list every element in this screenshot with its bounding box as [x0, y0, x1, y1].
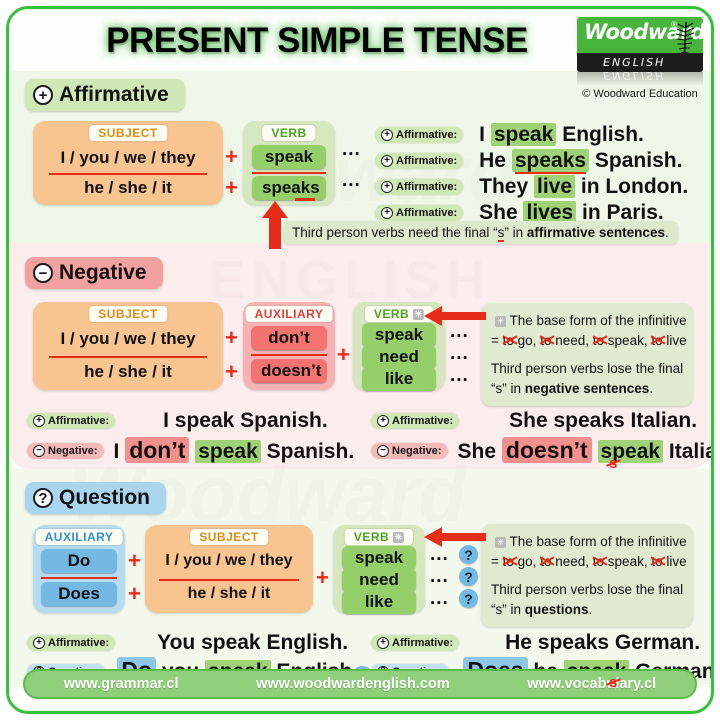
negative-sentence-left: I don’t speak Spanish.	[114, 437, 355, 464]
sentence-verb-2: speaks	[515, 149, 586, 174]
badge-affirmative: + Affirmative	[25, 79, 185, 111]
tag-label: Negative:	[392, 445, 442, 457]
crossed-out-s-question: s	[609, 674, 617, 691]
affirmative-plus-1: +	[225, 144, 238, 170]
question-example-row-aff-right: + Affirmative: He speaks German.	[371, 631, 700, 655]
tag-affirmative-1: + Affirmative:	[375, 127, 463, 143]
affirmative-example-row-3: + Affirmative: They live in London.	[375, 175, 688, 199]
crossed-out-s-negative: s	[609, 455, 617, 472]
sentence-post-2: Spanish.	[595, 149, 683, 172]
neg-right-verb: speak	[598, 440, 664, 463]
tag-affirmative-que-right: + Affirmative:	[371, 635, 459, 651]
plus-icon: +	[33, 85, 53, 105]
infinitive-verb-q4: live	[663, 554, 687, 569]
question-note-line-4-pre: “s” in	[491, 602, 525, 617]
sentence-pre-2: He	[479, 149, 506, 172]
affirmative-verb-chip-2: speaks	[252, 176, 326, 200]
question-qmark-1: ?	[459, 545, 478, 564]
sentence-verb-1: speak	[491, 123, 557, 146]
negative-auxiliary-panel: AUXILIARY don’t doesn’t	[243, 302, 335, 390]
affirmative-subject-panel: SUBJECT I / you / we / they he / she / i…	[33, 121, 223, 205]
infinitive-verb-1: go,	[514, 333, 537, 348]
question-note-line-1: ✳ The base form of the infinitive	[491, 532, 683, 552]
question-note-line-4-end: .	[589, 602, 593, 617]
minus-icon: −	[377, 445, 389, 457]
header: PRESENT SIMPLE TENSE Woodward ®	[9, 9, 711, 75]
negative-note-line-1: ✳ The base form of the infinitive	[491, 311, 683, 331]
plus-icon: +	[377, 415, 389, 427]
asterisk-marker-icon: ✳	[413, 309, 424, 320]
negative-note-line-1-text: The base form of the infinitive	[510, 313, 687, 328]
plus-icon: +	[377, 637, 389, 649]
question-auxiliary-chip-2: Does	[41, 582, 117, 606]
negative-verb-chip-2: need	[362, 345, 436, 369]
affirmative-plus-2: +	[225, 175, 238, 201]
question-auxiliary-divider	[41, 577, 117, 579]
negative-example-row-neg-right: − Negative: She doesn’t speak Italian.	[371, 437, 714, 464]
question-verb-chip-3: like	[342, 590, 416, 614]
question-auxiliary-panel: AUXILIARY Do Does	[33, 525, 125, 613]
affirmative-subject-divider	[49, 173, 207, 175]
question-sentence-aff-left: You speak English.	[157, 631, 348, 655]
question-qmark-2: ?	[459, 567, 478, 586]
plus-icon: +	[381, 207, 393, 219]
question-note-line-1-text: The base form of the infinitive	[510, 534, 687, 549]
tag-affirmative-label-4: Affirmative:	[396, 207, 457, 219]
asterisk-marker-icon: ✳	[495, 316, 506, 327]
tag-affirmative-2: + Affirmative:	[375, 153, 463, 169]
tag-affirmative-3: + Affirmative:	[375, 179, 463, 195]
neg-left-post: Spanish.	[261, 440, 354, 463]
negative-plus-3: +	[337, 342, 350, 368]
affirmative-example-row-1: + Affirmative: I speak English.	[375, 123, 644, 147]
crossed-to-3: to	[593, 331, 604, 351]
negative-subject-row-2: he / she / it	[84, 362, 172, 382]
neg-right-space	[592, 440, 598, 463]
question-dots-3: ...	[430, 588, 449, 610]
affirmative-note-mid: ” in	[504, 225, 527, 240]
negative-note-line-4-pre: “s” in	[491, 381, 525, 396]
crossed-to-q4: to	[651, 552, 662, 572]
copyright-text: © Woodward Education	[577, 88, 703, 100]
affirmative-note-bold: affirmative sentences	[527, 225, 665, 240]
plus-icon: +	[381, 129, 393, 141]
tag-affirmative-label-2: Affirmative:	[396, 155, 457, 167]
affirmative-note-end: .	[665, 225, 669, 240]
question-note-eq: =	[491, 554, 503, 569]
tag-label: Affirmative:	[392, 637, 453, 649]
plus-icon: +	[381, 155, 393, 167]
affirmative-dots-1: ...	[342, 139, 361, 161]
question-sentence-aff-right: He speaks German.	[505, 631, 700, 655]
tag-negative-right: − Negative:	[371, 443, 448, 459]
crossed-to-2: to	[540, 331, 551, 351]
arrow-left-icon	[424, 527, 486, 547]
sentence-post-3: in London.	[581, 175, 688, 198]
tag-label: Negative:	[48, 445, 98, 457]
tag-label: Affirmative:	[48, 415, 109, 427]
badge-negative: − Negative	[25, 257, 163, 289]
question-plus-2: +	[128, 581, 141, 607]
negative-subject-header: SUBJECT	[89, 306, 167, 322]
question-subject-divider	[159, 579, 299, 581]
plus-icon: +	[33, 637, 45, 649]
negative-sentence-right: She doesn’t speak Italian.	[458, 437, 714, 464]
negative-subject-panel: SUBJECT I / you / we / they he / she / i…	[33, 302, 223, 390]
question-verb-header: VERB✳	[345, 529, 413, 545]
badge-affirmative-label: Affirmative	[59, 83, 169, 107]
question-note-line-2: = to go, to need, to speak, to live	[491, 552, 683, 572]
affirmative-note: Third person verbs need the final “s” in…	[283, 221, 678, 244]
minus-icon: −	[33, 263, 53, 283]
badge-negative-label: Negative	[59, 261, 147, 285]
question-dots-2: ...	[430, 566, 449, 588]
negative-note-line-3: Third person verbs lose the final	[491, 359, 683, 379]
poster-frame: Woodward ENGLISH Woodward PRESENT SIMPLE…	[6, 6, 714, 714]
tag-label: Affirmative:	[48, 637, 109, 649]
woodward-logo[interactable]: Woodward ® ENGLISH	[577, 17, 703, 100]
question-note-line-4-bold: questions	[525, 602, 589, 617]
negative-sentence-aff-right: She speaks Italian.	[509, 409, 697, 433]
negative-subject-divider	[49, 356, 207, 358]
infinitive-verb-3: speak,	[604, 333, 648, 348]
logo-green-bar: Woodward ®	[577, 17, 703, 53]
question-auxiliary-chip-1: Do	[41, 549, 117, 573]
asterisk-marker-icon: ✳	[393, 532, 404, 543]
affirmative-verb-header: VERB	[262, 125, 315, 141]
negative-verb-header-label: VERB	[374, 307, 409, 321]
negative-auxiliary-divider	[251, 354, 327, 356]
page-title: PRESENT SIMPLE TENSE	[37, 21, 597, 61]
affirmative-sentence-2: He speaks Spanish.	[479, 149, 682, 173]
crossed-to-q2: to	[540, 552, 551, 572]
crossed-to-4: to	[651, 331, 662, 351]
question-subject-panel: SUBJECT I / you / we / they he / she / i…	[145, 525, 313, 613]
negative-dots-3: ...	[450, 365, 469, 387]
neg-right-aux: doesn’t	[502, 437, 592, 463]
affirmative-verb-divider	[252, 172, 326, 174]
affirmative-subject-row-2: he / she / it	[84, 178, 172, 198]
neg-left-aux: don’t	[125, 437, 189, 463]
infinitive-verb-q1: go,	[514, 554, 537, 569]
plus-icon: +	[381, 181, 393, 193]
tag-affirmative-label-3: Affirmative:	[396, 181, 457, 193]
neg-left-verb: speak	[195, 440, 261, 463]
affirmative-dots-2: ...	[342, 170, 361, 192]
question-qmark-3: ?	[459, 589, 478, 608]
negative-note-line-2: = to go, to need, to speak, to live	[491, 331, 683, 351]
neg-right-pre: She	[458, 440, 502, 463]
negative-subject-row-1: I / you / we / they	[60, 329, 195, 349]
question-mark-icon: ?	[33, 488, 53, 508]
tag-affirmative-neg-right: + Affirmative:	[371, 413, 459, 429]
question-note: ✳ The base form of the infinitive = to g…	[481, 524, 693, 627]
question-auxiliary-header: AUXILIARY	[36, 529, 123, 545]
negative-auxiliary-chip-1: don’t	[251, 326, 327, 350]
infinitive-verb-q3: speak,	[604, 554, 648, 569]
question-verb-chip-2: need	[342, 568, 416, 592]
tag-negative-left: − Negative:	[27, 443, 104, 459]
negative-note: ✳ The base form of the infinitive = to g…	[481, 303, 693, 406]
badge-question-label: Question	[59, 486, 150, 510]
negative-auxiliary-header: AUXILIARY	[246, 306, 333, 322]
crossed-to-1: to	[503, 331, 514, 351]
logo-reflection: ENGLISH	[577, 72, 703, 86]
negative-dots-2: ...	[450, 343, 469, 365]
negative-plus-1: +	[225, 325, 238, 351]
affirmative-subject-header: SUBJECT	[89, 125, 167, 141]
question-plus-1: +	[128, 548, 141, 574]
negative-note-line-4-bold: negative sentences	[525, 381, 650, 396]
question-example-row-aff-left: + Affirmative: You speak English.	[27, 631, 348, 655]
question-subject-row-1: I / you / we / they	[165, 552, 292, 570]
negative-sentence-aff-left: I speak Spanish.	[163, 409, 328, 433]
negative-note-line-4-end: .	[649, 381, 653, 396]
crossed-to-q1: to	[503, 552, 514, 572]
affirmative-subject-row-1: I / you / we / they	[60, 148, 195, 168]
sentence-verb-3: live	[534, 175, 575, 198]
negative-auxiliary-chip-2: doesn’t	[251, 359, 327, 383]
asterisk-marker-icon: ✳	[495, 537, 506, 548]
present-simple-tense-poster: Woodward ENGLISH Woodward PRESENT SIMPLE…	[0, 0, 720, 720]
badge-question: ? Question	[25, 482, 166, 514]
footer-link-woodwardenglish[interactable]: www.woodwardenglish.com	[256, 676, 450, 692]
question-subject-header: SUBJECT	[190, 529, 268, 545]
infinitive-verb-q2: need,	[551, 554, 589, 569]
logo-reflection-text: ENGLISH	[603, 72, 665, 82]
affirmative-verb-chip-1: speak	[252, 145, 326, 169]
question-subject-row-2: he / she / it	[188, 585, 271, 603]
negative-example-row-aff-left: + Affirmative: I speak Spanish.	[27, 409, 328, 433]
infinitive-verb-4: live	[663, 333, 687, 348]
question-note-line-4: “s” in questions.	[491, 600, 683, 620]
footer-link-vocabulary[interactable]: www.vocabulary.cl	[527, 676, 656, 692]
plus-icon: +	[33, 415, 45, 427]
affirmative-sentence-3: They live in London.	[479, 175, 688, 199]
tag-affirmative-neg-left: + Affirmative:	[27, 413, 115, 429]
footer: www.grammar.cl www.woodwardenglish.com w…	[23, 669, 697, 699]
logo-sub-wordmark: ENGLISH	[603, 56, 665, 69]
negative-verb-header: VERB✳	[365, 306, 433, 322]
affirmative-example-row-2: + Affirmative: He speaks Spanish.	[375, 149, 682, 173]
sentence-post-1: English.	[562, 123, 644, 146]
tag-affirmative-que-left: + Affirmative:	[27, 635, 115, 651]
question-verb-header-label: VERB	[354, 530, 389, 544]
negative-verb-chip-1: speak	[362, 323, 436, 347]
affirmative-sentence-1: I speak English.	[479, 123, 644, 147]
minus-icon: −	[33, 445, 45, 457]
tag-affirmative-4: + Affirmative:	[375, 205, 463, 221]
affirmative-note-pre: Third person verbs need the final “	[292, 225, 498, 240]
negative-verb-chip-3: like	[362, 367, 436, 391]
sentence-pre-3: They	[479, 175, 528, 198]
negative-note-line-4: “s” in negative sentences.	[491, 379, 683, 399]
question-dots-1: ...	[430, 544, 449, 566]
negative-plus-2: +	[225, 359, 238, 385]
footer-link-grammar[interactable]: www.grammar.cl	[64, 676, 179, 692]
negative-example-row-neg-left: − Negative: I don’t speak Spanish.	[27, 437, 354, 464]
infinitive-verb-2: need,	[551, 333, 589, 348]
neg-left-pre: I	[114, 440, 126, 463]
neg-right-post: Italian.	[663, 440, 714, 463]
question-verb-chip-1: speak	[342, 546, 416, 570]
question-verb-panel: VERB✳ speak need like	[333, 525, 425, 613]
logo-black-bar: ENGLISH	[577, 53, 703, 72]
tag-label: Affirmative:	[392, 415, 453, 427]
affirmative-final-s-underline	[295, 198, 315, 201]
crossed-to-q3: to	[593, 552, 604, 572]
negative-note-eq: =	[491, 333, 503, 348]
negative-example-row-aff-right: + Affirmative: She speaks Italian.	[371, 409, 697, 433]
question-note-line-3: Third person verbs lose the final	[491, 580, 683, 600]
sentence-pre-1: I	[479, 123, 485, 146]
affirmative-verb-panel: VERB speak speaks	[243, 121, 335, 205]
question-plus-3: +	[316, 565, 329, 591]
fern-icon	[669, 18, 699, 53]
tag-affirmative-label-1: Affirmative:	[396, 129, 457, 141]
arrow-left-icon	[424, 306, 486, 326]
